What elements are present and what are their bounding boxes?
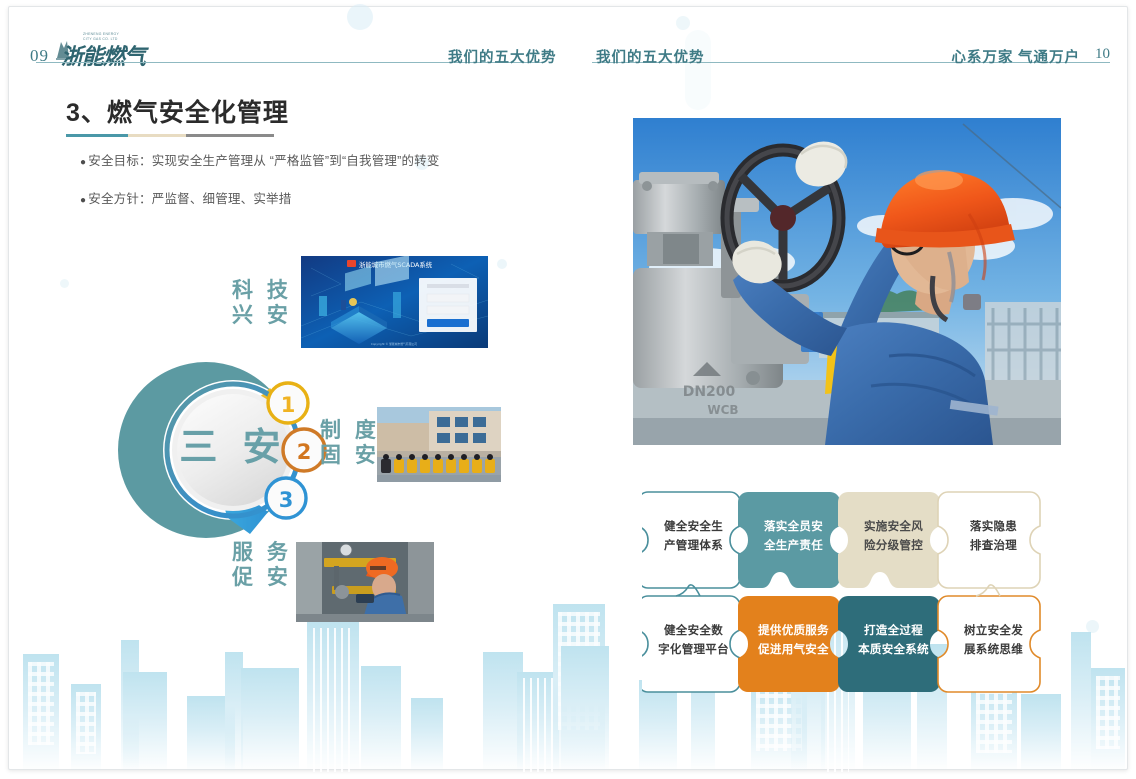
flow-cell-r1c3: 实施安全风 险分级管控 xyxy=(842,484,945,590)
logo-english-line2: CITY GAS CO. LTD xyxy=(83,37,118,41)
bullet-marker: ● xyxy=(80,157,86,168)
ring-item-2-label-line1: 制 度 xyxy=(320,418,380,443)
flow-cell-r1c2-line1: 落实全员安 xyxy=(742,518,845,537)
flow-cell-r2c4-line1: 树立安全发 xyxy=(942,622,1045,641)
logo-english-line1: ZHENENG ENERGY xyxy=(83,32,119,36)
header-slogan: 心系万家 气通万户 xyxy=(951,46,1080,67)
title-underline-seg-1 xyxy=(66,134,128,137)
flow-cell-r1c4-line1: 落实隐患 xyxy=(942,518,1045,537)
svg-text:DN200: DN200 xyxy=(683,384,736,400)
header-center-label-right: 我们的五大优势 xyxy=(596,46,705,67)
flow-cell-r2c1: 健全安全数 字化管理平台 xyxy=(642,588,745,694)
bullet-marker: ● xyxy=(80,195,86,206)
title-underline xyxy=(66,134,274,137)
ring-badge-1-number: 1 xyxy=(281,393,296,417)
flow-cell-r2c1-line2: 字化管理平台 xyxy=(642,641,745,660)
ring-badge-2-number: 2 xyxy=(297,440,312,464)
ring-item-1-label: 科 技 兴 安 xyxy=(232,278,292,328)
bullet-text: 安全方针：严监督、细管理、实举措 xyxy=(88,192,291,206)
flow-cell-r2c2-line2: 促进用气安全 xyxy=(742,641,845,660)
deco-circle-5 xyxy=(60,279,69,288)
flow-cell-r1c1-line2: 产管理体系 xyxy=(642,537,745,556)
page-header: 09 浙能燃气 ZHENENG ENERGY CITY GAS CO. LTD … xyxy=(0,0,1136,80)
worker-valve-photo: DN200 WCB xyxy=(633,118,1061,445)
deco-circle-4 xyxy=(497,259,507,269)
bullet-item: ●安全方针：严监督、细管理、实举措 xyxy=(80,188,440,207)
slide-canvas: 09 浙能燃气 ZHENENG ENERGY CITY GAS CO. LTD … xyxy=(0,0,1136,779)
flow-cell-r1c2: 落实全员安 全生产责任 xyxy=(742,484,845,590)
logo-chinese-text: 浙能燃气 xyxy=(61,39,145,71)
flow-cell-r2c3: 打造全过程 本质安全系统 xyxy=(842,588,945,694)
flow-cell-r2c2-line1: 提供优质服务 xyxy=(742,622,845,641)
safety-flow-chart: 健全安全生 产管理体系 落实全员安 全生产责任 实施安全风 险分级管控 落实隐患… xyxy=(642,484,1054,696)
flow-cell-r2c2: 提供优质服务 促进用气安全 xyxy=(742,588,845,694)
ring-item-3-label: 服 务 促 安 xyxy=(232,540,292,590)
flow-cell-r2c3-line1: 打造全过程 xyxy=(842,622,945,641)
flow-cell-r2c4: 树立安全发 展系统思维 xyxy=(942,588,1045,694)
flow-cell-r1c3-line1: 实施安全风 xyxy=(842,518,945,537)
header-center-label-left: 我们的五大优势 xyxy=(448,46,557,67)
flow-cell-r2c1-line1: 健全安全数 xyxy=(642,622,745,641)
section-title-block: 3、燃气安全化管理 xyxy=(66,93,289,137)
svg-text:WCB: WCB xyxy=(707,403,738,417)
flow-cell-r1c3-line2: 险分级管控 xyxy=(842,537,945,556)
page-number-right: 10 xyxy=(1095,46,1110,63)
flow-cell-r2c3-line2: 本质安全系统 xyxy=(842,641,945,660)
flow-cell-r1c1-line1: 健全安全生 xyxy=(642,518,745,537)
three-safety-ring-diagram: 三 安 1 2 3 科 技 兴 安 制 度 固 安 服 务 促 安 xyxy=(88,260,408,610)
bullet-list: ●安全目标：实现安全生产管理从 “严格监管”到“自我管理”的转变 ●安全方针：严… xyxy=(80,150,440,226)
flow-cell-r2c4-line2: 展系统思维 xyxy=(942,641,1045,660)
ring-center-text: 三 安 xyxy=(179,425,286,469)
ring-item-2-label-line2: 固 安 xyxy=(320,443,380,468)
flow-cell-r1c2-line2: 全生产责任 xyxy=(742,537,845,556)
flow-cell-r1c4-line2: 排查治理 xyxy=(942,537,1045,556)
flow-cell-r1c4: 落实隐患 排查治理 xyxy=(942,484,1045,590)
ring-item-1-label-line2: 兴 安 xyxy=(232,303,292,328)
ring-item-3-label-line2: 促 安 xyxy=(232,565,292,590)
flow-cell-r1c1: 健全安全生 产管理体系 xyxy=(642,484,745,590)
title-underline-seg-3 xyxy=(186,134,274,137)
title-underline-seg-2 xyxy=(128,134,186,137)
ring-item-3-label-line1: 服 务 xyxy=(232,540,292,565)
bullet-item: ●安全目标：实现安全生产管理从 “严格监管”到“自我管理”的转变 xyxy=(80,150,440,169)
ring-item-2-label: 制 度 固 安 xyxy=(320,418,380,468)
page-number-left: 09 xyxy=(30,46,49,66)
ring-badge-3-number: 3 xyxy=(279,488,294,512)
bullet-text: 安全目标：实现安全生产管理从 “严格监管”到“自我管理”的转变 xyxy=(88,154,439,168)
ring-item-1-label-line1: 科 技 xyxy=(232,278,292,303)
page-title: 3、燃气安全化管理 xyxy=(66,93,289,129)
